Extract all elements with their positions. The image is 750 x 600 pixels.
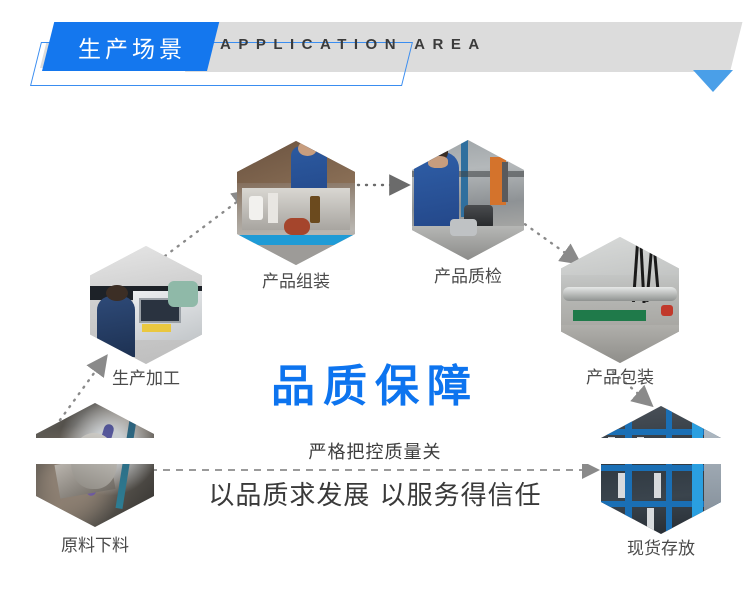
production-scene-banner: 生产场景 APPLICATION AREA bbox=[0, 0, 750, 600]
node-label-assembly: 产品组装 bbox=[196, 267, 396, 292]
hexagon-assembly bbox=[237, 141, 355, 265]
center-headline: 品质保障 bbox=[0, 350, 750, 414]
node-packaging[interactable]: 产品包装 bbox=[561, 237, 679, 363]
center-slogan-text: 以品质求发展 以服务得信任 bbox=[198, 475, 551, 512]
quality-inspection-photo bbox=[412, 140, 524, 260]
hexagon-inspection bbox=[412, 140, 524, 260]
header-title-en: APPLICATION AREA bbox=[220, 36, 487, 53]
hexagon-packaging bbox=[561, 237, 679, 363]
node-label-raw-material: 原料下料 bbox=[0, 531, 195, 556]
node-label-inspection: 产品质检 bbox=[368, 262, 568, 287]
section-header: 生产场景 APPLICATION AREA bbox=[0, 0, 750, 100]
node-assembly[interactable]: 产品组装 bbox=[237, 141, 355, 265]
stock-storage-photo bbox=[601, 406, 721, 534]
center-subtitle-text: 严格把控质量关 bbox=[301, 438, 450, 464]
cnc-machining-photo bbox=[90, 246, 202, 364]
header-title-cn: 生产场景 bbox=[52, 24, 212, 70]
hexagon-machining bbox=[90, 246, 202, 364]
product-assembly-photo bbox=[237, 141, 355, 265]
hexagon-storage bbox=[601, 406, 721, 534]
triangle-down-icon bbox=[693, 70, 733, 92]
node-storage[interactable]: 现货存放 bbox=[601, 406, 721, 534]
product-packaging-photo bbox=[561, 237, 679, 363]
center-slogan: 以品质求发展 以服务得信任 bbox=[0, 475, 750, 512]
node-label-storage: 现货存放 bbox=[561, 534, 750, 559]
center-subtitle: 严格把控质量关 bbox=[0, 438, 750, 464]
node-machining[interactable]: 生产加工 bbox=[90, 246, 202, 364]
node-inspection[interactable]: 产品质检 bbox=[412, 140, 524, 260]
